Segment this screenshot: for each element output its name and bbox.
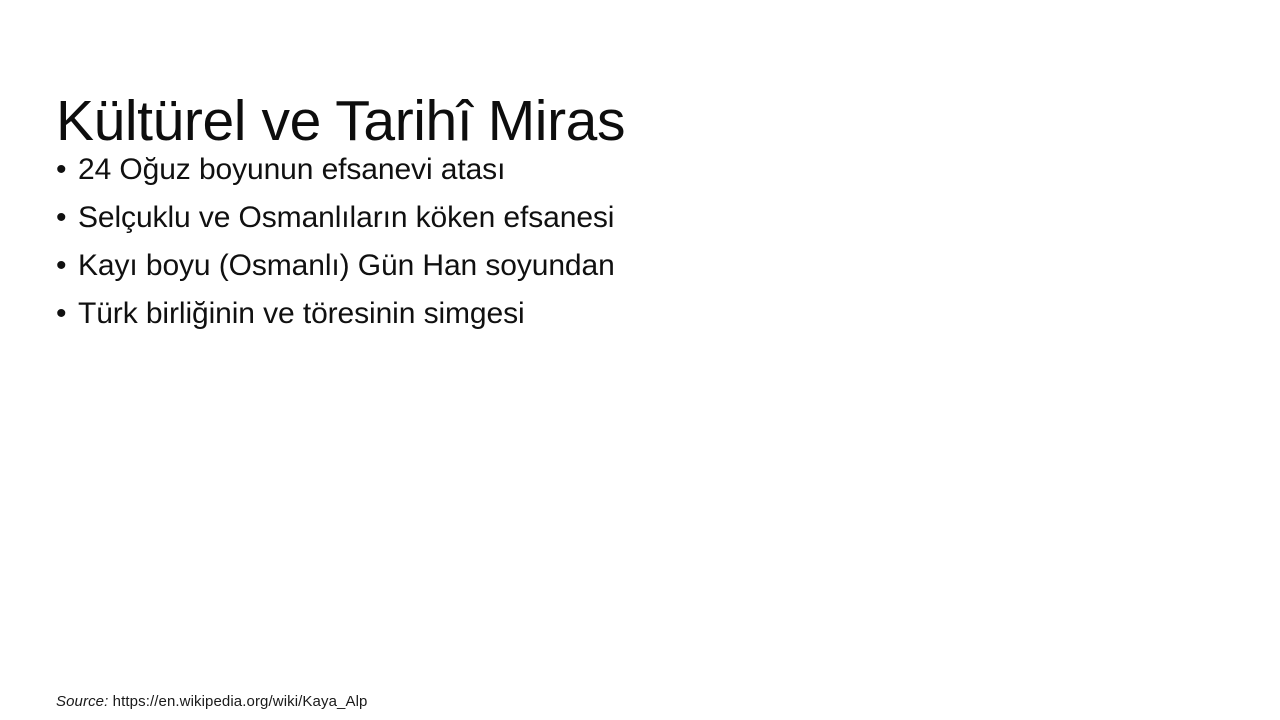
bullet-point-icon: • [56,146,78,194]
list-item-label: Türk birliğinin ve töresinin simgesi [78,290,525,338]
slide-title: Kültürel ve Tarihî Miras [56,90,1196,154]
list-item: • Türk birliğinin ve töresinin simgesi [56,290,1206,338]
bullet-list: • 24 Oğuz boyunun efsanevi atası • Selçu… [56,146,1206,338]
bullet-point-icon: • [56,194,78,242]
source-citation: Source: https://en.wikipedia.org/wiki/Ka… [56,692,367,712]
source-url: https://en.wikipedia.org/wiki/Kaya_Alp [108,693,367,710]
list-item: • 24 Oğuz boyunun efsanevi atası [56,146,1206,194]
list-item-label: Selçuklu ve Osmanlıların köken efsanesi [78,194,614,242]
presentation-slide: Kültürel ve Tarihî Miras • 24 Oğuz boyun… [0,0,1280,720]
list-item-label: Kayı boyu (Osmanlı) Gün Han soyundan [78,242,615,290]
list-item: • Selçuklu ve Osmanlıların köken efsanes… [56,194,1206,242]
list-item: • Kayı boyu (Osmanlı) Gün Han soyundan [56,242,1206,290]
source-label: Source: [56,693,108,710]
list-item-label: 24 Oğuz boyunun efsanevi atası [78,146,505,194]
bullet-point-icon: • [56,290,78,338]
bullet-point-icon: • [56,242,78,290]
